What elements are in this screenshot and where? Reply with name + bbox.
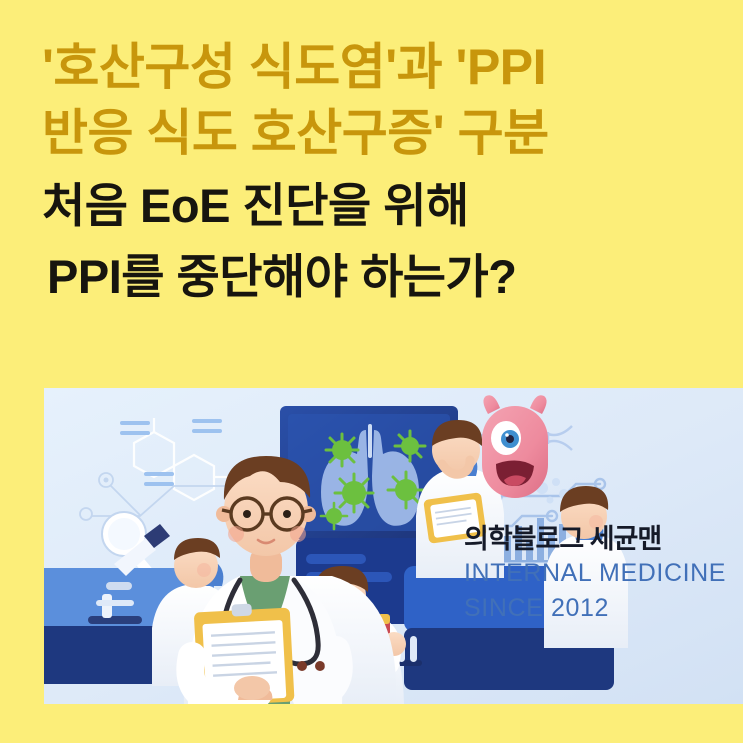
headline-secondary-line-1: 처음 EoE 진단을 위해	[0, 166, 743, 237]
headline-primary-line-1: '호산구성 식도염'과 'PPI	[0, 34, 743, 100]
blog-thumbnail-card: '호산구성 식도염'과 'PPI 반응 식도 호산구증' 구분 처음 EoE 진…	[0, 0, 743, 743]
brand-since-text: SINCE 2012	[464, 594, 609, 622]
headline-primary-line-2: 반응 식도 호산구증' 구분	[0, 100, 743, 166]
headline-block: '호산구성 식도염'과 'PPI 반응 식도 호산구증' 구분 처음 EoE 진…	[0, 0, 743, 308]
germ-man-mascot	[482, 395, 548, 498]
illustration-panel: 의학블로그 세균맨 INTERNAL MEDICINE SINCE 2012	[44, 388, 743, 704]
medical-team-illustration: 의학블로그 세균맨 INTERNAL MEDICINE SINCE 2012	[44, 388, 743, 704]
headline-secondary-line-2: PPI를 중단해야 하는가?	[0, 237, 743, 308]
brand-korean-name: 의학블로그 세균맨	[464, 524, 661, 554]
brand-english-name: INTERNAL MEDICINE	[464, 559, 726, 587]
